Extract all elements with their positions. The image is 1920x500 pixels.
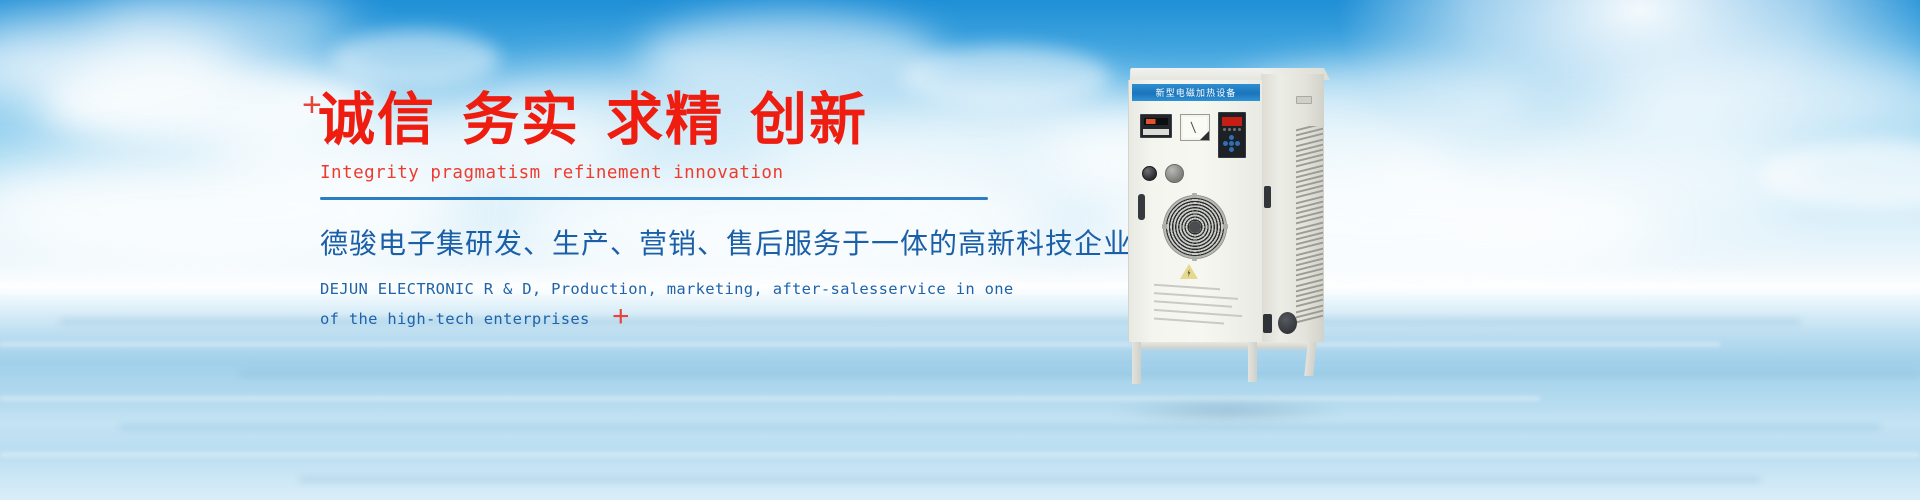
tagline-en-line-1: DEJUN ELECTRONIC R & D, Production, mark… bbox=[320, 274, 1018, 304]
promo-banner: + + 诚信务实求精创新 Integrity pragmatism refine… bbox=[0, 0, 1920, 500]
company-tagline-chinese: 德骏电子集研发、生产、营销、售后服务于一体的高新科技企业 bbox=[320, 226, 1018, 261]
machine-brand-label: 新型电磁加热设备 bbox=[1132, 84, 1260, 101]
power-port bbox=[1263, 314, 1272, 333]
warning-triangle-label bbox=[1180, 264, 1198, 279]
temperature-controller-display bbox=[1140, 114, 1172, 138]
headline-english-subtitle: Integrity pragmatism refinement innovati… bbox=[320, 163, 1018, 183]
headline-word-1: 诚信 bbox=[318, 87, 436, 153]
side-latch bbox=[1296, 96, 1312, 104]
digital-keypad-panel bbox=[1218, 112, 1246, 158]
section-divider bbox=[320, 197, 988, 200]
headline-slogan: 诚信务实求精创新 bbox=[318, 92, 1018, 149]
cooling-fan-grille bbox=[1164, 196, 1226, 258]
door-handle bbox=[1138, 194, 1145, 220]
tagline-en-line-2: of the high-tech enterprises bbox=[320, 304, 1018, 334]
side-ventilation-slats bbox=[1296, 126, 1323, 326]
headline-word-4: 创新 bbox=[750, 87, 868, 153]
rotary-knob bbox=[1165, 164, 1184, 183]
machine-label-text: 新型电磁加热设备 bbox=[1156, 86, 1237, 99]
company-tagline-english: DEJUN ELECTRONIC R & D, Production, mark… bbox=[320, 274, 1018, 334]
headline-word-3: 求精 bbox=[606, 87, 724, 153]
analog-ammeter-gauge bbox=[1180, 114, 1210, 141]
machine-control-panel bbox=[1140, 114, 1258, 160]
product-image-heating-machine: 新型电磁加热设备 bbox=[1120, 68, 1330, 408]
headline-word-2: 务实 bbox=[462, 87, 580, 153]
side-door-handle bbox=[1264, 186, 1271, 208]
cable-outlet-port bbox=[1278, 312, 1297, 334]
banner-copy: 诚信务实求精创新 Integrity pragmatism refinement… bbox=[318, 92, 1018, 334]
machine-legs bbox=[1128, 342, 1324, 388]
selector-knob bbox=[1142, 166, 1157, 181]
specification-plate bbox=[1154, 286, 1246, 329]
